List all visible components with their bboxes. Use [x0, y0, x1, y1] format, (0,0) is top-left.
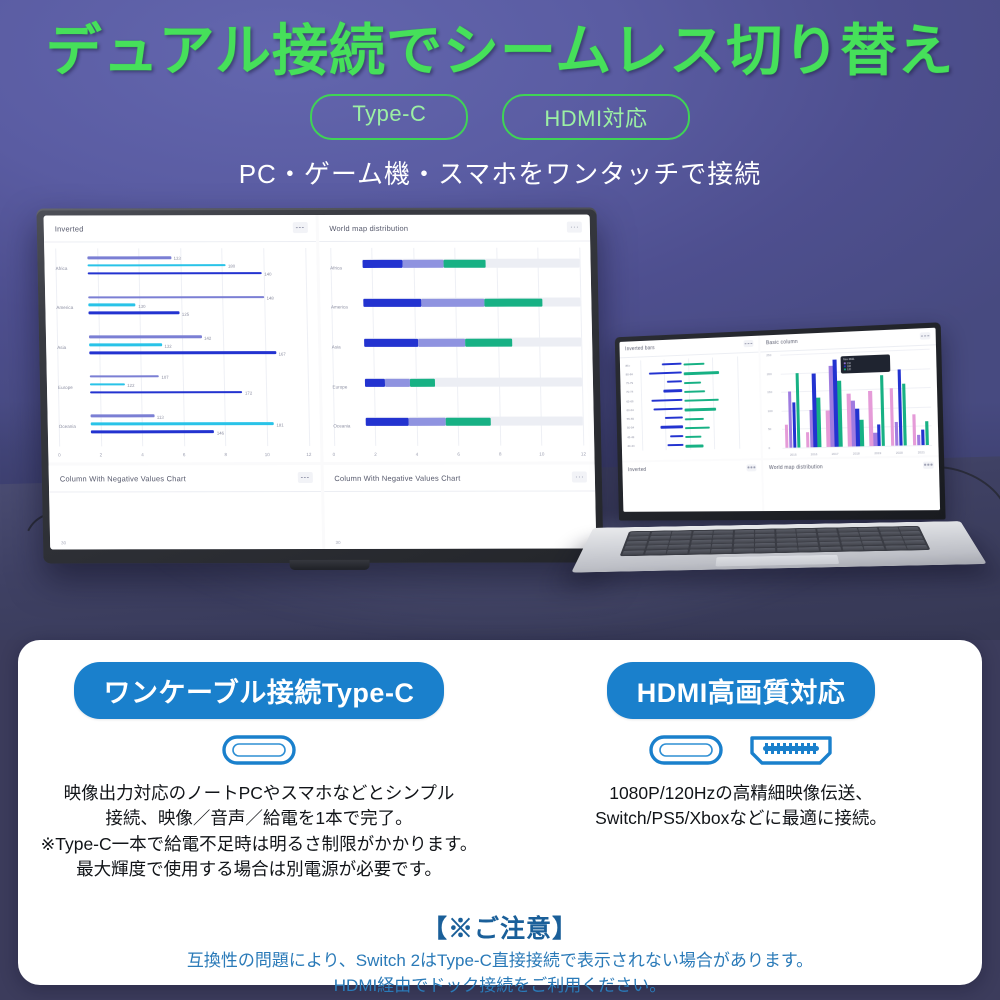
bar-Series A [89, 296, 265, 299]
x-tick-label: 0 [333, 452, 336, 457]
bar-male [663, 390, 682, 393]
keyboard-key[interactable] [689, 549, 710, 553]
keyboard-key[interactable] [734, 544, 754, 548]
usb-c-icon [649, 733, 723, 767]
page-subtitle: PC・ゲーム機・スマホをワンタッチで接続 [0, 154, 1000, 191]
desc-line: Switch/PS5/Xboxなどに最適に接続。 [500, 806, 982, 831]
keyboard-key[interactable] [838, 528, 858, 532]
keyboard-key[interactable] [842, 546, 863, 550]
stack-seg-Segment 1 [362, 260, 402, 268]
laptop-screen: Inverted bars 85+80-8475-7970-7465-6960-… [619, 328, 940, 512]
monitor-panel-negative-1[interactable]: Column With Negative Values Chart 30 [49, 465, 322, 549]
y-category-label: Europe [332, 384, 347, 389]
axis-tick: 30 [336, 540, 341, 545]
chart-tooltip: Nov 2021210188120 [840, 354, 890, 373]
bar-value-label: 140 [264, 272, 271, 277]
x-tick-label: 4 [416, 452, 419, 457]
laptop-panel-basic-column[interactable]: Basic column 050100150200250201520162017… [760, 328, 939, 458]
keyboard-key[interactable] [646, 545, 667, 549]
chart-world-map: 024681012AfricaAmericaAsiaEuropeOceania [330, 248, 584, 446]
keyboard-key[interactable] [858, 528, 878, 532]
bar-Series A [89, 335, 201, 338]
tooltip-value: 120 [847, 368, 851, 371]
stack-seg-Segment 2 [385, 379, 410, 387]
stack-seg-Segment 1 [365, 379, 385, 387]
x-tick-label: 2017 [832, 451, 839, 455]
keyboard-key[interactable] [841, 541, 862, 545]
bar-female [685, 436, 702, 438]
keyboard-key[interactable] [777, 538, 797, 542]
column-S4 [880, 375, 885, 445]
keyboard-key[interactable] [882, 536, 903, 540]
keyboard-key[interactable] [734, 539, 754, 543]
y-category-label: 55-59 [627, 417, 634, 421]
y-category-label: 50-54 [627, 426, 634, 430]
y-tick-label: 250 [766, 353, 771, 357]
stack-seg-Segment 3 [445, 418, 490, 426]
keyboard-key[interactable] [798, 542, 818, 546]
bar-male [651, 399, 682, 402]
keyboard-key[interactable] [628, 536, 649, 540]
kebab-menu-icon[interactable] [292, 222, 307, 233]
keyboard-key[interactable] [629, 532, 650, 536]
keyboard-key[interactable] [733, 548, 753, 552]
y-category-label: 45-49 [627, 435, 634, 439]
laptop-base [571, 521, 987, 572]
monitor-bezel: Inverted 024681012Africa133180140America… [36, 208, 603, 564]
x-tick-label: 10 [539, 452, 544, 457]
monitor-panel-inverted[interactable]: Inverted 024681012Africa133180140America… [44, 215, 321, 462]
bar-male [667, 380, 682, 383]
column-S1 [912, 414, 916, 445]
y-category-label: Africa [56, 266, 68, 271]
keyboard-key[interactable] [755, 543, 775, 547]
keyboard-key[interactable] [691, 540, 711, 544]
keyboard-key[interactable] [899, 527, 919, 531]
panel-title: Column With Negative Values Chart [334, 474, 584, 483]
x-tick-label: 0 [58, 452, 61, 457]
bar-value-label: 113 [157, 415, 164, 420]
panel-title: Inverted [55, 224, 305, 233]
keyboard-key[interactable] [755, 529, 774, 533]
keyboard-key[interactable] [904, 540, 925, 544]
keyboard-key[interactable] [777, 543, 797, 547]
grid-line [781, 387, 930, 393]
kebab-menu-icon[interactable] [572, 472, 587, 483]
keyboard-key[interactable] [622, 551, 644, 555]
panel-divider [324, 491, 596, 492]
bar-Series B [91, 422, 274, 425]
keyboard-key[interactable] [906, 545, 928, 549]
panel-divider [49, 491, 321, 492]
panel-divider [319, 241, 591, 242]
keyboard-key[interactable] [797, 533, 817, 537]
bar-Series C [89, 312, 180, 315]
grid-line [222, 248, 227, 446]
chart-inverted-bars: 85+80-8475-7970-7465-6960-6455-5950-5445… [625, 356, 754, 451]
monitor-screen: Inverted 024681012Africa133180140America… [44, 215, 597, 550]
y-category-label: Asia [57, 345, 66, 350]
keyboard-key[interactable] [626, 541, 647, 545]
keyboard-key[interactable] [624, 546, 646, 550]
x-tick-label: 2015 [790, 452, 797, 456]
y-category-label: Oceania [59, 424, 76, 429]
header-pill-group: Type-C HDMI対応 [0, 94, 1000, 140]
bar-Series B [88, 264, 226, 267]
keyboard-key[interactable] [798, 538, 818, 542]
bar-female [684, 381, 702, 384]
keyboard-key[interactable] [667, 550, 688, 554]
bar-female [685, 445, 704, 447]
x-tick-label: 6 [183, 452, 186, 457]
keyboard-key[interactable] [776, 529, 795, 533]
panel-title: World map distribution [769, 462, 933, 471]
badge-type-c: ワンケーブル接続Type-C [74, 662, 445, 719]
bar-value-label: 132 [164, 343, 171, 348]
portable-monitor: Inverted 024681012Africa133180140America… [36, 208, 603, 564]
keyboard-key[interactable] [797, 529, 817, 533]
y-category-label: 80-84 [626, 372, 633, 376]
keyboard-key[interactable] [755, 538, 775, 542]
monitor-stand [290, 560, 370, 570]
keyboard-key[interactable] [861, 536, 882, 540]
bar-female [683, 363, 705, 366]
y-category-label: America [56, 305, 73, 310]
keyboard-key[interactable] [901, 531, 922, 535]
keyboard-key[interactable] [735, 530, 754, 534]
bar-male [654, 408, 683, 411]
x-tick-label: 12 [581, 452, 586, 457]
bar-value-label: 148 [267, 296, 274, 301]
bar-Series C [88, 272, 262, 275]
keyboard-key[interactable] [692, 535, 712, 539]
panel-divider [44, 241, 316, 242]
tooltip-row: 120 [843, 367, 886, 372]
keyboard-key[interactable] [672, 531, 692, 535]
bar-female [684, 390, 706, 393]
panel-title: World map distribution [329, 224, 579, 233]
notice-block: 【※ご注意】 互換性の問題により、Switch 2はType-C直接接続で表示さ… [18, 909, 982, 999]
bar-value-label: 181 [276, 422, 283, 427]
keyboard-key[interactable] [859, 532, 879, 536]
notice-heading: 【※ご注意】 [18, 909, 982, 945]
y-category-label: Africa [330, 265, 342, 270]
laptop: Inverted bars 85+80-8475-7970-7465-6960-… [595, 330, 985, 580]
bar-value-label: 146 [217, 430, 224, 435]
bar-Series A [91, 415, 154, 418]
pill-hdmi: HDMI対応 [502, 94, 689, 140]
axis-tick: 30 [61, 540, 66, 545]
keyboard-key[interactable] [712, 539, 732, 543]
keyboard-key[interactable] [690, 544, 711, 548]
bar-value-label: 180 [228, 264, 235, 269]
bar-Series B [90, 343, 162, 346]
keyboard-key[interactable] [817, 528, 837, 532]
y-category-label: Europe [58, 385, 73, 390]
keyboard-key[interactable] [799, 547, 820, 551]
keyboard-key[interactable] [712, 544, 732, 548]
panel-title: Column With Negative Values Chart [60, 474, 310, 483]
y-category-label: 70-74 [626, 390, 633, 394]
tooltip-swatch [843, 365, 845, 367]
x-tick-label: 2021 [918, 450, 925, 454]
y-category-label: 85+ [625, 363, 630, 367]
laptop-panel-inverted[interactable]: Inverted [622, 460, 762, 512]
notice-line: 互換性の問題により、Switch 2はType-C直接接続で表示されない場合があ… [18, 948, 982, 974]
laptop-keyboard[interactable] [620, 526, 931, 556]
y-category-label: 65-69 [626, 399, 633, 403]
keyboard-key[interactable] [819, 537, 839, 541]
keyboard-key[interactable] [776, 534, 796, 538]
desc-line: 映像出力対応のノートPCやスマホなどとシンプル [18, 781, 500, 806]
x-tick-label: 12 [306, 452, 311, 457]
bar-Series A [90, 375, 159, 378]
keyboard-key[interactable] [818, 533, 838, 537]
keyboard-key[interactable] [649, 536, 670, 540]
type-c-description: 映像出力対応のノートPCやスマホなどとシンプル 接続、映像／音声／給電を1本で完… [18, 781, 500, 883]
stack-seg-Segment 2 [409, 418, 445, 426]
bar-value-label: 133 [174, 256, 181, 261]
notice-body: 互換性の問題により、Switch 2はType-C直接接続で表示されない場合があ… [18, 948, 982, 999]
stack-seg-Segment 2 [418, 339, 465, 347]
kebab-menu-icon[interactable] [743, 340, 753, 347]
bar-value-label: 130 [138, 304, 145, 309]
bar-value-label: 167 [279, 351, 286, 356]
feature-columns: ワンケーブル接続Type-C 映像出力対応のノートPCやスマホなどとシンプル 接… [18, 640, 982, 883]
chart-basic-column: 0501001502002502015201620172018201920202… [766, 349, 932, 448]
desc-line: ※Type-C一本で給電不足時は明るさ制限がかかります。 [18, 832, 500, 857]
stack-seg-Segment 1 [363, 299, 421, 307]
kebab-menu-icon[interactable] [297, 472, 312, 483]
y-tick-label: 200 [767, 372, 772, 376]
feature-card: ワンケーブル接続Type-C 映像出力対応のノートPCやスマホなどとシンプル 接… [18, 640, 982, 985]
bar-Series C [90, 351, 276, 354]
stack-seg-Segment 1 [366, 418, 410, 426]
x-tick-label: 10 [265, 452, 270, 457]
chart-inverted: 024681012Africa133180140America148130125… [55, 248, 309, 446]
column-S1 [890, 388, 895, 445]
kebab-menu-icon[interactable] [746, 464, 756, 471]
keyboard-key[interactable] [713, 535, 733, 539]
keyboard-key[interactable] [755, 548, 775, 552]
panel-title: Inverted bars [625, 341, 752, 352]
bar-male [661, 426, 684, 429]
pill-type-c: Type-C [310, 94, 468, 140]
keyboard-key[interactable] [670, 536, 690, 540]
usb-c-icon [222, 733, 296, 767]
stack-seg-Segment 3 [410, 378, 435, 386]
hdmi-icon-row [500, 733, 982, 767]
grid-line [737, 356, 740, 448]
notice-line: HDMI経由でドック接続をご利用ください。 [18, 973, 982, 999]
column-S4 [860, 419, 864, 445]
y-category-label: 60-64 [627, 408, 634, 412]
x-tick-label: 6 [457, 452, 460, 457]
bar-value-label: 122 [127, 383, 134, 388]
grid-line [305, 248, 310, 446]
y-tick-label: 0 [768, 446, 770, 450]
type-c-icon-row [18, 733, 500, 767]
y-category-label: 40-44 [627, 444, 634, 448]
bar-Series C [91, 430, 214, 433]
keyboard-key[interactable] [648, 541, 669, 545]
badge-hdmi: HDMI高画質対応 [607, 662, 876, 719]
grid-line [180, 248, 185, 446]
keyboard-key[interactable] [693, 531, 713, 535]
bar-male [665, 417, 683, 420]
stack-seg-Segment 3 [444, 260, 486, 268]
bar-female [683, 371, 719, 374]
x-tick-label: 2019 [874, 451, 881, 455]
bar-female [684, 408, 716, 411]
keyboard-key[interactable] [644, 550, 666, 554]
keyboard-key[interactable] [883, 541, 904, 545]
keyboard-key[interactable] [734, 534, 754, 538]
column-S4 [902, 384, 907, 445]
y-category-label: 75-79 [626, 381, 633, 385]
laptop-panel-inverted-bars[interactable]: Inverted bars 85+80-8475-7970-7465-6960-… [619, 336, 760, 460]
stack-seg-Segment 3 [465, 339, 512, 347]
bar-male [649, 371, 682, 374]
bar-value-label: 107 [161, 375, 168, 380]
tooltip-swatch [843, 362, 845, 364]
laptop-lid: Inverted bars 85+80-8475-7970-7465-6960-… [615, 322, 946, 520]
feature-column-hdmi: HDMI高画質対応 [500, 640, 982, 883]
bar-female [685, 427, 711, 430]
bar-female [684, 418, 704, 421]
x-tick-label: 2 [100, 452, 103, 457]
grid-line [263, 248, 268, 446]
kebab-menu-icon[interactable] [567, 222, 582, 233]
keyboard-key[interactable] [862, 541, 883, 545]
keyboard-key[interactable] [864, 546, 885, 550]
stack-seg-Segment 1 [364, 339, 418, 347]
stack-seg-Segment 3 [484, 299, 542, 307]
column-S4 [925, 422, 929, 445]
keyboard-key[interactable] [820, 547, 841, 551]
hdmi-icon [749, 733, 833, 767]
y-tick-label: 50 [768, 427, 771, 431]
bar-Series B [89, 304, 136, 307]
panel-title: Basic column [766, 333, 930, 346]
laptop-panel-world-map[interactable]: World map distribution [763, 457, 940, 511]
keyboard-key[interactable] [668, 545, 689, 549]
keyboard-key[interactable] [878, 527, 898, 531]
desc-line: 最大輝度で使用する場合は別電源が必要です。 [18, 857, 500, 882]
bar-male [670, 435, 684, 437]
feature-column-type-c: ワンケーブル接続Type-C 映像出力対応のノートPCやスマホなどとシンプル 接… [18, 640, 500, 883]
x-tick-label: 8 [499, 452, 502, 457]
keyboard-key[interactable] [820, 542, 841, 546]
bar-Series B [90, 383, 124, 386]
keyboard-key[interactable] [885, 545, 907, 549]
keyboard-key[interactable] [880, 532, 901, 536]
y-category-label: America [331, 305, 348, 310]
keyboard-key[interactable] [650, 531, 670, 535]
keyboard-key[interactable] [669, 540, 690, 544]
y-category-label: Asia [332, 344, 341, 349]
bar-Series A [88, 256, 171, 259]
y-category-label: Oceania [333, 424, 350, 429]
column-S4 [817, 398, 822, 447]
header-block: デュアル接続でシームレス切り替え Type-C HDMI対応 PC・ゲーム機・ス… [0, 0, 1000, 191]
page-title: デュアル接続でシームレス切り替え [0, 20, 1000, 82]
x-tick-label: 2020 [896, 450, 903, 454]
x-tick-label: 2016 [811, 452, 818, 456]
bar-value-label: 172 [245, 391, 252, 396]
bar-value-label: 125 [182, 312, 189, 317]
tooltip-swatch [843, 369, 845, 371]
panel-title: Inverted [628, 465, 755, 473]
x-tick-label: 4 [141, 452, 144, 457]
desc-line: 接続、映像／音声／給電を1本で完了。 [18, 806, 500, 831]
keyboard-key[interactable] [903, 536, 924, 540]
hdmi-description: 1080P/120Hzの高精細映像伝送、 Switch/PS5/Xboxなどに最… [500, 781, 982, 832]
kebab-menu-icon[interactable] [920, 332, 931, 340]
laptop-trackpad[interactable] [715, 555, 839, 567]
monitor-panel-negative-2[interactable]: Column With Negative Values Chart 30 [323, 465, 596, 549]
bar-value-label: 142 [204, 335, 211, 340]
keyboard-key[interactable] [711, 549, 732, 553]
y-tick-label: 100 [768, 409, 773, 413]
keyboard-key[interactable] [839, 532, 859, 536]
keyboard-key[interactable] [714, 530, 734, 534]
stack-seg-Segment 2 [402, 260, 444, 268]
keyboard-key[interactable] [840, 537, 861, 541]
grid-line [640, 360, 643, 450]
x-tick-label: 2 [374, 452, 377, 457]
bar-male [667, 444, 683, 446]
bar-male [662, 362, 682, 365]
x-tick-label: 2018 [853, 451, 860, 455]
keyboard-key[interactable] [777, 548, 798, 552]
bar-Series C [90, 391, 242, 394]
keyboard-key[interactable] [755, 534, 775, 538]
monitor-panel-world-map[interactable]: World map distribution 024681012AfricaAm… [318, 215, 595, 462]
y-tick-label: 150 [767, 390, 772, 394]
stack-seg-Segment 2 [421, 299, 484, 307]
x-tick-label: 8 [224, 452, 227, 457]
desc-line: 1080P/120Hzの高精細映像伝送、 [500, 781, 982, 806]
kebab-menu-icon[interactable] [923, 461, 934, 468]
